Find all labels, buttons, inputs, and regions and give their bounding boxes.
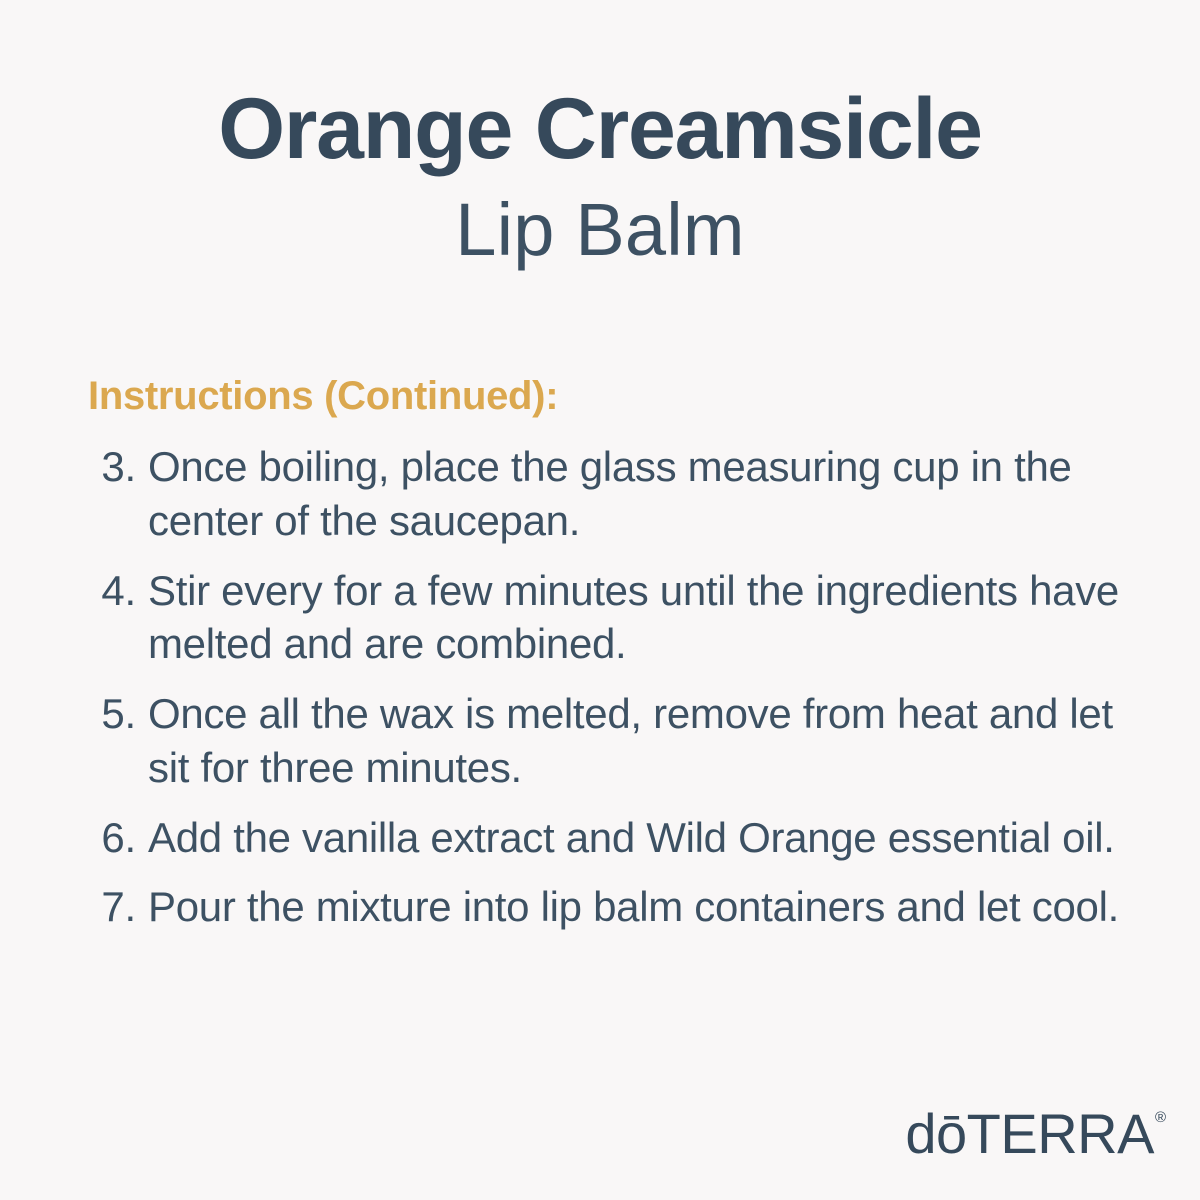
page-subtitle: Lip Balm	[0, 189, 1200, 270]
step-number: 6.	[88, 811, 136, 865]
recipe-card: Orange Creamsicle Lip Balm Instructions …	[0, 0, 1200, 1200]
step-text: Add the vanilla extract and Wild Orange …	[136, 811, 1148, 865]
list-item: 7. Pour the mixture into lip balm contai…	[88, 880, 1148, 934]
doterra-logo: dōTERRA ®	[905, 1106, 1166, 1162]
step-text: Once all the wax is melted, remove from …	[136, 687, 1148, 795]
instruction-step-list: 3. Once boiling, place the glass measuri…	[88, 440, 1148, 934]
step-number: 3.	[88, 440, 136, 494]
step-text: Stir every for a few minutes until the i…	[136, 564, 1148, 672]
list-item: 4. Stir every for a few minutes until th…	[88, 564, 1148, 672]
step-text: Once boiling, place the glass measuring …	[136, 440, 1148, 548]
instructions-heading: Instructions (Continued):	[88, 374, 1148, 418]
instructions-section: Instructions (Continued): 3. Once boilin…	[88, 374, 1148, 950]
list-item: 5. Once all the wax is melted, remove fr…	[88, 687, 1148, 795]
list-item: 6. Add the vanilla extract and Wild Oran…	[88, 811, 1148, 865]
registered-trademark-icon: ®	[1155, 1110, 1166, 1125]
title-block: Orange Creamsicle Lip Balm	[0, 84, 1200, 271]
step-number: 7.	[88, 880, 136, 934]
list-item: 3. Once boiling, place the glass measuri…	[88, 440, 1148, 548]
step-text: Pour the mixture into lip balm container…	[136, 880, 1148, 934]
step-number: 4.	[88, 564, 136, 618]
step-number: 5.	[88, 687, 136, 741]
doterra-wordmark: dōTERRA	[905, 1106, 1154, 1162]
page-title: Orange Creamsicle	[0, 84, 1200, 175]
